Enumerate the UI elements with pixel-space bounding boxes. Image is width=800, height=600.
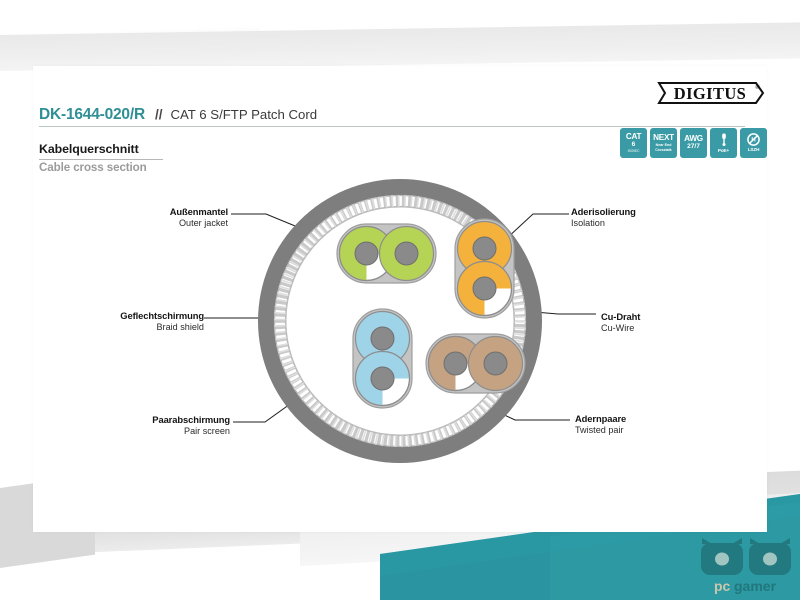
- cu-wire-core: [355, 242, 378, 265]
- section-title-de: Kabelquerschnitt: [39, 142, 139, 156]
- callout-pair-screen-en: Pair screen: [50, 426, 230, 436]
- lszh-badge-label: LSZH: [748, 148, 760, 153]
- callout-pair-screen-de: Paarabschirmung: [50, 414, 230, 425]
- plug-icon: [719, 133, 729, 147]
- svg-text:H: H: [751, 138, 755, 144]
- cu-wire-core: [395, 242, 418, 265]
- blue-pair: [353, 309, 412, 408]
- callout-pair-screen: Paarabschirmung Pair screen: [50, 414, 230, 436]
- header-line: DK-1644-020/R // CAT 6 S/FTP Patch Cord: [39, 106, 739, 124]
- cu-wire-core: [473, 277, 496, 300]
- callout-braid-shield: Geflechtschirmung Braid shield: [20, 310, 204, 332]
- next-badge[interactable]: NEXT Near End Crosstalk: [650, 128, 677, 158]
- lszh-badge[interactable]: H LSZH: [740, 128, 767, 158]
- product-sku: DK-1644-020/R: [39, 106, 145, 124]
- poe-badge[interactable]: PoE+: [710, 128, 737, 158]
- watermark-text-bold: gamer: [734, 578, 777, 594]
- header-divider: [39, 126, 745, 127]
- no-halogen-icon: H: [747, 133, 760, 146]
- callout-isolation: Aderisolierung Isolation: [571, 206, 751, 228]
- callout-braid-shield-de: Geflechtschirmung: [20, 310, 204, 321]
- green-pair: [337, 224, 436, 283]
- feature-badge-row: CAT 6 ISO/IEC NEXT Near End Crosstalk AW…: [620, 128, 767, 158]
- slide-canvas: DIGITUS ® DK-1644-020/R // CAT 6 S/FTP P…: [0, 0, 800, 600]
- awg-badge[interactable]: AWG 27/7: [680, 128, 707, 158]
- poe-badge-label: PoE+: [718, 149, 729, 154]
- cu-wire-core: [371, 327, 394, 350]
- orange-white-conductor: [458, 262, 512, 316]
- callout-isolation-de: Aderisolierung: [571, 206, 751, 217]
- brown-pair: [426, 334, 525, 393]
- header-separator: //: [155, 107, 163, 122]
- cu-wire-core: [444, 352, 467, 375]
- callout-outer-jacket-en: Outer jacket: [60, 218, 228, 228]
- callout-cu-wire-de: Cu-Draht: [601, 311, 751, 322]
- svg-text:DIGITUS: DIGITUS: [674, 84, 747, 103]
- section-title-underline: [39, 159, 163, 160]
- next-badge-line1: NEXT: [653, 134, 674, 142]
- callout-cu-wire: Cu-Draht Cu-Wire: [601, 311, 751, 333]
- pcgamer-watermark: pc gamer: [698, 534, 794, 596]
- callout-outer-jacket-de: Außenmantel: [60, 206, 228, 217]
- callout-cu-wire-en: Cu-Wire: [601, 323, 751, 333]
- callout-outer-jacket: Außenmantel Outer jacket: [60, 206, 228, 228]
- owl-icon: [701, 538, 791, 575]
- cu-wire-core: [371, 367, 394, 390]
- callout-twisted-pair-de: Adernpaare: [575, 413, 740, 424]
- watermark-text-light: pc: [714, 578, 731, 594]
- cat6-badge-line3: ISO/IEC: [628, 150, 640, 153]
- brown-conductor: [469, 337, 523, 391]
- green-conductor: [380, 227, 434, 281]
- callout-braid-shield-en: Braid shield: [20, 322, 204, 332]
- next-badge-line3: Crosstalk: [655, 148, 671, 152]
- next-badge-line2: Near End: [656, 143, 672, 147]
- digitus-logo: DIGITUS ®: [656, 79, 766, 107]
- cat6-badge[interactable]: CAT 6 ISO/IEC: [620, 128, 647, 158]
- cu-wire-core: [473, 237, 496, 260]
- callout-twisted-pair-en: Twisted pair: [575, 425, 740, 435]
- product-name: CAT 6 S/FTP Patch Cord: [170, 107, 317, 122]
- blue-white-conductor: [356, 352, 410, 406]
- svg-text:®: ®: [755, 84, 760, 91]
- cu-wire-core: [484, 352, 507, 375]
- cat6-badge-line1: CAT: [626, 133, 641, 141]
- cat6-badge-line2: 6: [632, 142, 636, 149]
- callout-isolation-en: Isolation: [571, 218, 751, 228]
- awg-badge-line1: AWG: [684, 135, 703, 143]
- awg-badge-line2: 27/7: [687, 144, 700, 151]
- orange-pair: [455, 219, 514, 318]
- callout-twisted-pair: Adernpaare Twisted pair: [575, 413, 740, 435]
